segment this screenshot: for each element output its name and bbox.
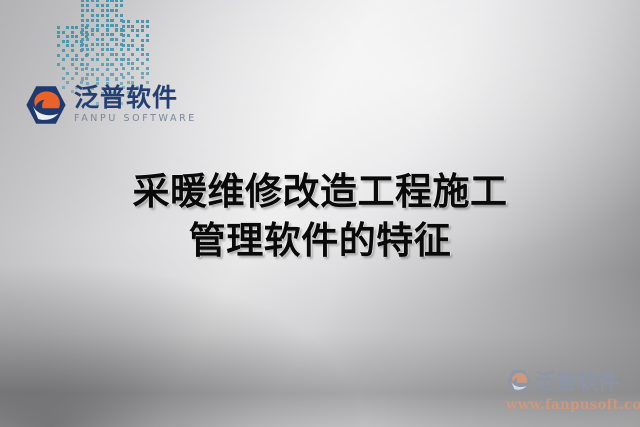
- pixel-block: [91, 19, 94, 22]
- pixel-block: [110, 24, 113, 27]
- pixel-block: [106, 28, 109, 31]
- pixel-block: [86, 24, 89, 27]
- pixel-block: [106, 0, 109, 2]
- pixel-block: [101, 33, 104, 36]
- pixel-block: [115, 43, 118, 46]
- fanpu-logo-mark-icon: [24, 83, 68, 127]
- pixel-block: [71, 35, 74, 38]
- pixel-block: [146, 39, 149, 42]
- pixel-block: [96, 43, 99, 46]
- pixel-block: [57, 26, 60, 29]
- watermark: 泛普软件 www.fanpusoft.com: [506, 366, 638, 413]
- pixel-block: [96, 58, 99, 61]
- pixel-block: [96, 77, 99, 80]
- pixel-block: [122, 20, 125, 23]
- pixel-block: [66, 35, 69, 38]
- pixel-block: [146, 34, 149, 37]
- pixel-block: [131, 76, 134, 79]
- slide-canvas: 泛普软件 FANPU SOFTWARE 采暖维修改造工程施工 管理软件的特征 泛…: [0, 0, 640, 427]
- pixel-block: [71, 58, 74, 61]
- pixel-block: [115, 9, 118, 12]
- watermark-logo-mark-icon: [506, 368, 532, 394]
- pixel-block: [91, 43, 94, 46]
- pixel-block: [136, 34, 139, 37]
- pixel-block: [86, 38, 89, 41]
- pixel-block: [131, 67, 134, 70]
- pixel-block: [131, 62, 134, 65]
- pixel-block: [71, 26, 74, 29]
- pixel-block: [85, 77, 88, 80]
- pixel-block: [106, 43, 109, 46]
- pixel-block: [146, 53, 149, 56]
- pixel-block: [81, 38, 84, 41]
- pixel-block: [101, 63, 104, 66]
- pixel-block: [86, 73, 89, 76]
- pixel-block: [96, 28, 99, 31]
- pixel-block: [101, 73, 104, 76]
- pixel-block: [71, 63, 74, 66]
- pixel-block: [81, 24, 84, 27]
- pixel-block: [115, 24, 118, 27]
- pixel-block: [81, 0, 84, 2]
- pixel-block: [146, 72, 149, 75]
- pixel-block: [131, 44, 134, 47]
- pixel-block: [75, 67, 78, 70]
- pixel-block: [96, 53, 99, 56]
- pixel-block: [81, 77, 84, 80]
- pixel-block: [106, 68, 109, 71]
- brand-logo: 泛普软件 FANPU SOFTWARE: [24, 83, 197, 127]
- pixel-block: [115, 14, 118, 17]
- pixel-block: [86, 19, 89, 22]
- pixel-block: [141, 44, 144, 47]
- pixel-block: [106, 48, 109, 51]
- pixel-block: [81, 48, 84, 51]
- pixel-block: [86, 9, 89, 12]
- pixel-block: [57, 54, 60, 57]
- pixel-block: [127, 48, 130, 51]
- pixel-block: [115, 58, 118, 61]
- pixel-block: [81, 43, 84, 46]
- watermark-url: www.fanpusoft.com: [506, 397, 638, 413]
- pixel-block: [127, 25, 130, 28]
- pixel-block: [122, 29, 125, 32]
- pixel-block: [122, 25, 125, 28]
- pixel-block: [62, 77, 65, 80]
- pixel-block: [96, 19, 99, 22]
- pixel-block: [75, 40, 78, 43]
- pixel-block: [66, 44, 69, 47]
- pixel-block: [131, 53, 134, 56]
- pixel-block: [71, 31, 74, 34]
- pixel-block: [131, 29, 134, 32]
- pixel-block: [136, 48, 139, 51]
- pixel-block: [127, 20, 130, 23]
- pixel-block: [91, 68, 94, 71]
- page-title: 采暖维修改造工程施工 管理软件的特征: [0, 168, 640, 266]
- pixel-block: [115, 38, 118, 41]
- pixel-block: [91, 9, 94, 12]
- pixel-block: [120, 4, 123, 7]
- pixel-block: [110, 33, 113, 36]
- pixel-block: [62, 40, 65, 43]
- pixel-block: [106, 9, 109, 12]
- pixel-block: [91, 14, 94, 17]
- pixel-block: [62, 49, 65, 52]
- pixel-block: [141, 72, 144, 75]
- pixel-block: [122, 67, 125, 70]
- pixel-block: [96, 68, 99, 71]
- pixel-block: [101, 53, 104, 56]
- pixel-block: [110, 53, 113, 56]
- pixel-block: [122, 53, 125, 56]
- pixel-block: [81, 19, 84, 22]
- pixel-block: [86, 53, 89, 56]
- brand-logo-text: 泛普软件 FANPU SOFTWARE: [74, 85, 197, 125]
- pixel-block: [96, 4, 99, 7]
- pixel-block: [131, 25, 134, 28]
- pixel-block: [110, 63, 113, 66]
- pixel-block: [81, 28, 84, 31]
- watermark-brand-cn: 泛普软件: [535, 366, 619, 396]
- pixel-block: [101, 38, 104, 41]
- pixel-block: [96, 14, 99, 17]
- pixel-block: [122, 58, 125, 61]
- pixel-block: [115, 28, 118, 31]
- pixel-block: [120, 48, 123, 51]
- pixel-block: [141, 25, 144, 28]
- pixel-block: [66, 40, 69, 43]
- pixel-buildings-icon: [48, 0, 156, 86]
- pixel-block: [120, 0, 123, 2]
- pixel-block: [75, 35, 78, 38]
- pixel-block: [110, 0, 113, 2]
- pixel-block: [106, 24, 109, 27]
- pixel-block: [146, 25, 149, 28]
- pixel-block: [127, 72, 130, 75]
- pixel-block: [127, 44, 130, 47]
- pixel-block: [75, 54, 78, 57]
- pixel-block: [57, 44, 60, 47]
- pixel-block: [122, 44, 125, 47]
- pixel-block: [127, 62, 130, 65]
- pixel-block: [101, 4, 104, 7]
- pixel-block: [115, 77, 118, 80]
- pixel-block: [96, 24, 99, 27]
- pixel-block: [115, 68, 118, 71]
- pixel-block: [91, 73, 94, 76]
- pixel-block: [106, 33, 109, 36]
- pixel-block: [101, 24, 104, 27]
- page-title-line-1: 采暖维修改造工程施工: [0, 168, 640, 217]
- pixel-block: [86, 63, 89, 66]
- pixel-block: [62, 67, 65, 70]
- pixel-block: [141, 76, 144, 79]
- pixel-block: [81, 63, 84, 66]
- pixel-block: [85, 67, 88, 70]
- page-title-line-2: 管理软件的特征: [0, 217, 640, 266]
- pixel-block: [91, 48, 94, 51]
- pixel-block: [71, 77, 74, 80]
- pixel-block: [66, 54, 69, 57]
- pixel-block: [131, 39, 134, 42]
- pixel-block: [146, 58, 149, 61]
- pixel-block: [75, 58, 78, 61]
- pixel-block: [127, 34, 130, 37]
- pixel-block: [141, 48, 144, 51]
- pixel-block: [110, 48, 113, 51]
- brand-name-en: FANPU SOFTWARE: [74, 114, 197, 124]
- pixel-block: [86, 0, 89, 2]
- pixel-block: [75, 72, 78, 75]
- pixel-block: [141, 29, 144, 32]
- pixel-block: [101, 48, 104, 51]
- pixel-block: [81, 68, 84, 71]
- pixel-block: [122, 39, 125, 42]
- pixel-block: [62, 31, 65, 34]
- pixel-block: [101, 14, 104, 17]
- watermark-logo-row: 泛普软件: [506, 366, 638, 396]
- pixel-block: [71, 49, 74, 52]
- pixel-block: [101, 9, 104, 12]
- pixel-block: [127, 58, 130, 61]
- pixel-block: [141, 53, 144, 56]
- pixel-block: [136, 58, 139, 61]
- pixel-block: [141, 62, 144, 65]
- pixel-block: [110, 19, 113, 22]
- pixel-block: [110, 38, 113, 41]
- pixel-block: [122, 76, 125, 79]
- pixel-block: [86, 33, 89, 36]
- pixel-block: [91, 28, 94, 31]
- pixel-block: [106, 58, 109, 61]
- pixel-block: [91, 58, 94, 61]
- pixel-block: [110, 9, 113, 12]
- pixel-block: [106, 19, 109, 22]
- pixel-block: [141, 20, 144, 23]
- pixel-block: [106, 63, 109, 66]
- pixel-block: [115, 0, 118, 2]
- pixel-block: [120, 14, 123, 17]
- pixel-block: [136, 29, 139, 32]
- pixel-block: [91, 0, 94, 2]
- pixel-block: [101, 43, 104, 46]
- pixel-block: [136, 67, 139, 70]
- brand-name-cn: 泛普软件: [74, 85, 197, 110]
- pixel-block: [86, 4, 89, 7]
- pixel-block: [141, 39, 144, 42]
- pixel-block: [66, 72, 69, 75]
- pixel-block: [91, 33, 94, 36]
- pixel-block: [110, 73, 113, 76]
- pixel-block: [106, 14, 109, 17]
- pixel-block: [120, 63, 123, 66]
- pixel-block: [146, 20, 149, 23]
- pixel-block: [146, 67, 149, 70]
- pixel-block: [122, 34, 125, 37]
- pixel-block: [86, 48, 89, 51]
- pixel-block: [106, 77, 109, 80]
- pixel-block: [57, 35, 60, 38]
- pixel-block: [96, 38, 99, 41]
- pixel-block: [57, 63, 60, 66]
- pixel-block: [62, 58, 65, 61]
- pixel-block: [81, 4, 84, 7]
- pixel-block: [85, 44, 88, 47]
- pixel-block: [136, 20, 139, 23]
- pixel-block: [75, 26, 78, 29]
- pixel-block: [66, 26, 69, 29]
- pixel-block: [57, 31, 60, 34]
- pixel-block: [115, 53, 118, 56]
- pixel-block: [81, 14, 84, 17]
- pixel-block: [115, 4, 118, 7]
- pixel-block: [81, 33, 84, 36]
- pixel-block: [81, 58, 84, 61]
- pixel-block: [71, 44, 74, 47]
- pixel-block: [120, 73, 123, 76]
- pixel-block: [81, 9, 84, 12]
- pixel-block: [96, 0, 99, 2]
- pixel-block: [106, 4, 109, 7]
